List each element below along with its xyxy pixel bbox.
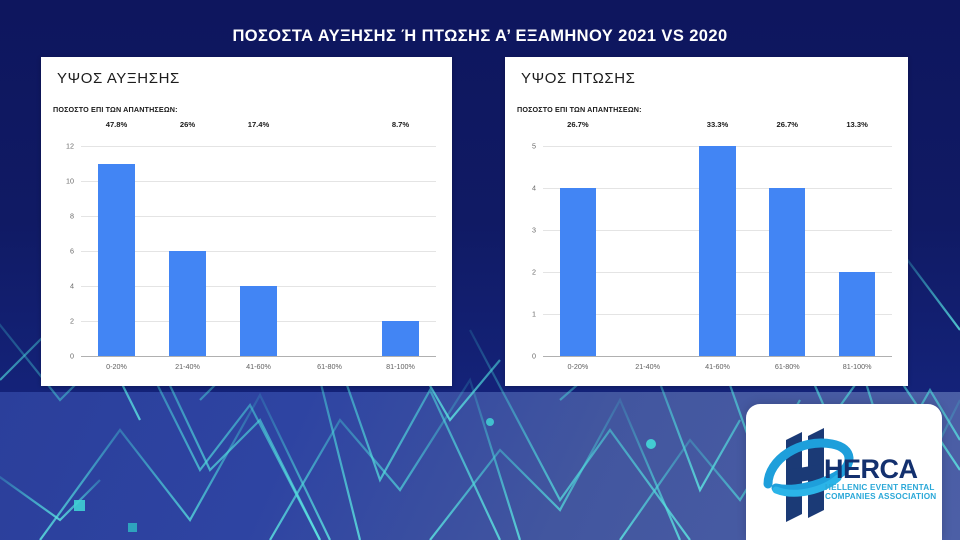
x-axis-tick-label: 21-40% xyxy=(175,362,200,371)
x-axis-tick-label: 0-20% xyxy=(568,362,589,371)
herca-logo-card: HERCA HELLENIC EVENT RENTAL COMPANIES AS… xyxy=(746,404,942,540)
panel-decrease-subtitle: ΠΟΣΟΣΤΟ ΕΠΙ ΤΩΝ ΑΠΑΝΤΗΣΕΩΝ: xyxy=(517,105,642,114)
y-axis-tick-label: 4 xyxy=(513,184,536,193)
y-axis-tick-label: 1 xyxy=(513,310,536,319)
y-axis-tick-label: 3 xyxy=(513,226,536,235)
decrease-bar-chart: 0123450-20%21-40%41-60%61-80%81-100% xyxy=(513,140,900,378)
y-axis-tick-label: 10 xyxy=(49,177,74,186)
response-percentage-label: 33.3% xyxy=(707,120,729,129)
x-axis-tick-label: 61-80% xyxy=(317,362,342,371)
plot-area: 0123450-20%21-40%41-60%61-80%81-100% xyxy=(513,140,900,378)
y-axis-tick-label: 5 xyxy=(513,142,536,151)
bar[interactable] xyxy=(240,286,277,356)
gridline xyxy=(81,146,436,147)
slide-canvas: ΠΟΣΟΣΤΑ ΑΥΞΗΣΗΣ Ή ΠΤΩΣΗΣ Α’ ΕΞΑΜΗΝΟΥ 202… xyxy=(0,0,960,540)
plot-area: 0246810120-20%21-40%41-60%61-80%81-100% xyxy=(49,140,444,378)
decoration-dot-2 xyxy=(486,418,494,426)
increase-bar-chart: 0246810120-20%21-40%41-60%61-80%81-100% xyxy=(49,140,444,378)
response-percentage-label: 26% xyxy=(180,120,195,129)
x-axis-tick-label: 61-80% xyxy=(775,362,800,371)
decoration-square-1 xyxy=(74,500,85,511)
x-axis-line xyxy=(81,356,436,357)
panel-decrease-title: ΥΨΟΣ ΠΤΩΣΗΣ xyxy=(521,70,636,87)
x-axis-tick-label: 0-20% xyxy=(106,362,127,371)
bar[interactable] xyxy=(560,188,596,356)
page-title: ΠΟΣΟΣΤΑ ΑΥΞΗΣΗΣ Ή ΠΤΩΣΗΣ Α’ ΕΞΑΜΗΝΟΥ 202… xyxy=(0,27,960,46)
bar[interactable] xyxy=(839,272,875,356)
x-axis-tick-label: 81-100% xyxy=(843,362,872,371)
y-axis-tick-label: 4 xyxy=(49,282,74,291)
response-percentage-label: 47.8% xyxy=(106,120,128,129)
panel-decrease: ΥΨΟΣ ΠΤΩΣΗΣ ΠΟΣΟΣΤΟ ΕΠΙ ΤΩΝ ΑΠΑΝΤΗΣΕΩΝ: … xyxy=(505,57,908,386)
herca-wordmark: HERCA xyxy=(824,454,918,485)
bar[interactable] xyxy=(169,251,206,356)
y-axis-tick-label: 6 xyxy=(49,247,74,256)
herca-tagline-line2: COMPANIES ASSOCIATION xyxy=(825,492,936,501)
y-axis-tick-label: 8 xyxy=(49,212,74,221)
x-axis-line xyxy=(543,356,892,357)
response-percentage-label: 17.4% xyxy=(248,120,270,129)
y-axis-tick-label: 12 xyxy=(49,142,74,151)
x-axis-tick-label: 21-40% xyxy=(635,362,660,371)
response-percentage-label: 13.3% xyxy=(846,120,868,129)
response-percentage-label: 26.7% xyxy=(777,120,799,129)
decoration-square-2 xyxy=(128,523,137,532)
bar[interactable] xyxy=(769,188,805,356)
decoration-dot-1 xyxy=(646,439,656,449)
y-axis-tick-label: 2 xyxy=(513,268,536,277)
response-percentage-label: 26.7% xyxy=(567,120,589,129)
herca-tagline-line1: HELLENIC EVENT RENTAL xyxy=(825,483,935,492)
bar[interactable] xyxy=(382,321,419,356)
y-axis-tick-label: 0 xyxy=(49,352,74,361)
response-percentage-label: 8.7% xyxy=(392,120,409,129)
bar[interactable] xyxy=(699,146,735,356)
y-axis-tick-label: 0 xyxy=(513,352,536,361)
x-axis-tick-label: 81-100% xyxy=(386,362,415,371)
bar[interactable] xyxy=(98,164,135,357)
panel-increase-subtitle: ΠΟΣΟΣΤΟ ΕΠΙ ΤΩΝ ΑΠΑΝΤΗΣΕΩΝ: xyxy=(53,105,178,114)
panel-increase: ΥΨΟΣ ΑΥΞΗΣΗΣ ΠΟΣΟΣΤΟ ΕΠΙ ΤΩΝ ΑΠΑΝΤΗΣΕΩΝ:… xyxy=(41,57,452,386)
y-axis-tick-label: 2 xyxy=(49,317,74,326)
x-axis-tick-label: 41-60% xyxy=(705,362,730,371)
x-axis-tick-label: 41-60% xyxy=(246,362,271,371)
panel-increase-title: ΥΨΟΣ ΑΥΞΗΣΗΣ xyxy=(57,70,180,87)
